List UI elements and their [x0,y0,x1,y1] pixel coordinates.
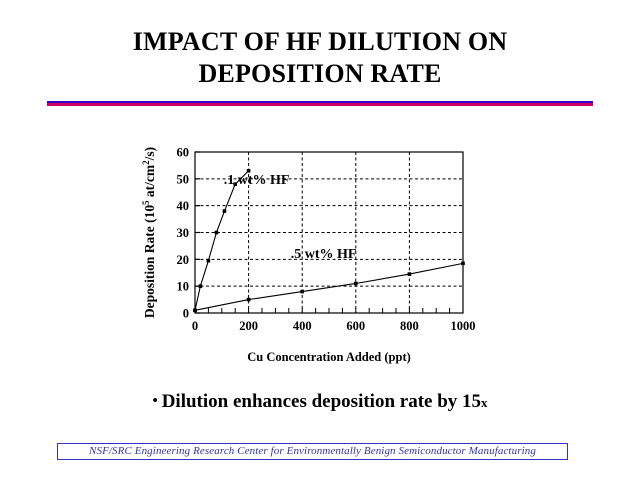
y-tick-label: 20 [177,253,190,267]
series-annotation-1: .1 wt% HF [224,173,290,188]
x-tick-label: 600 [346,319,365,333]
y-tick-label: 40 [177,199,190,213]
chart-x-axis-label: Cu Concentration Added (ppt) [247,350,411,364]
title-divider [47,101,593,106]
data-point-marker [300,290,304,294]
divider-band-bottom [47,103,593,106]
chart-y-axis-label: Deposition Rate (105 at/cm2/s) [141,147,157,318]
page-title-line-1: IMPACT OF HF DILUTION ON [0,26,640,58]
data-point-marker [354,282,358,286]
bullet-statement: •Dilution enhances deposition rate by 15… [0,390,640,414]
series-line-1 [195,171,249,311]
y-axis-title: Deposition Rate (105 at/cm2/s) [141,147,157,318]
page-title-line-2: DEPOSITION RATE [0,58,640,90]
data-point-marker [199,284,203,288]
data-point-marker [247,298,251,302]
footer-text: NSF/SRC Engineering Research Center for … [89,445,536,458]
bullet-marker-icon: • [152,393,157,409]
x-axis-title: Cu Concentration Added (ppt) [247,350,411,364]
series-annotation-2: .5 wt% HF [291,247,357,262]
x-tick-label: 400 [293,319,312,333]
chart-series-annotations: .1 wt% HF.5 wt% HF [224,173,357,262]
series-line-2 [195,263,463,310]
footer-banner: NSF/SRC Engineering Research Center for … [57,443,568,460]
chart-svg: 02004006008001000 0102030405060 .1 wt% H… [140,130,500,375]
x-tick-label: 1000 [451,319,476,333]
data-point-marker [223,209,227,213]
page-title: IMPACT OF HF DILUTION ON DEPOSITION RATE [0,26,640,90]
data-point-marker [193,309,197,313]
y-tick-label: 30 [177,226,190,240]
bullet-text: Dilution enhances deposition rate by 15 [162,391,481,412]
bullet-text-suffix: x [481,395,488,410]
data-point-marker [207,259,211,263]
deposition-rate-chart: 02004006008001000 0102030405060 .1 wt% H… [140,130,500,375]
x-tick-label: 800 [400,319,419,333]
chart-data-markers [193,169,465,312]
data-point-marker [215,231,219,235]
data-point-marker [461,262,465,266]
y-tick-label: 60 [177,146,190,160]
chart-y-tick-labels: 0102030405060 [177,146,190,321]
x-tick-label: 0 [192,319,198,333]
chart-series-lines [195,171,463,311]
chart-x-tick-labels: 02004006008001000 [192,319,476,333]
y-tick-label: 10 [177,280,190,294]
x-tick-label: 200 [239,319,258,333]
data-point-marker [408,272,412,276]
data-point-marker [247,169,251,173]
y-tick-label: 50 [177,172,190,186]
y-tick-label: 0 [183,307,189,321]
